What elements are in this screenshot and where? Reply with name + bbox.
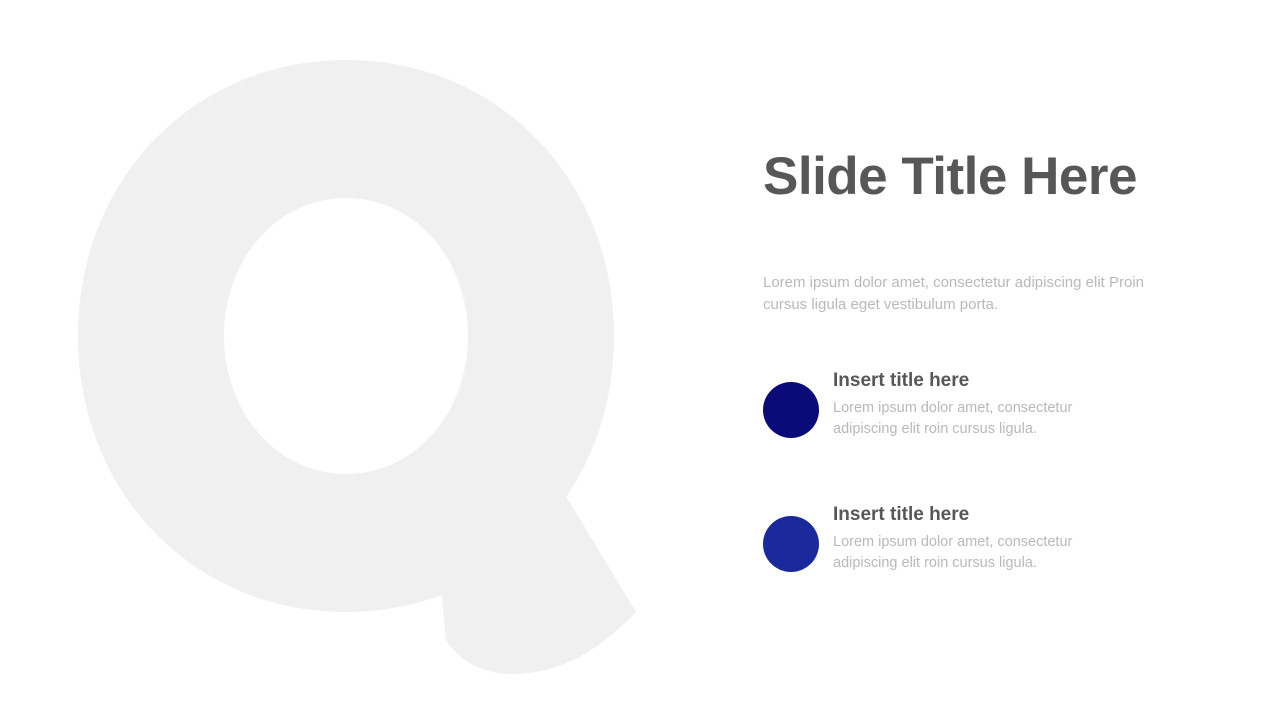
list-item-body: Insert title here Lorem ipsum dolor amet… (833, 502, 1123, 574)
list-item[interactable]: Insert title here Lorem ipsum dolor amet… (763, 368, 1223, 458)
bullet-circle-icon (763, 516, 819, 572)
content-column: Slide Title Here Lorem ipsum dolor amet,… (763, 0, 1223, 720)
list-item[interactable]: Insert title here Lorem ipsum dolor amet… (763, 502, 1223, 592)
slide-canvas: Slide Title Here Lorem ipsum dolor amet,… (0, 0, 1280, 720)
list-item-text: Lorem ipsum dolor amet, consectetur adip… (833, 398, 1123, 440)
page-title: Slide Title Here (763, 146, 1137, 208)
list-item-body: Insert title here Lorem ipsum dolor amet… (833, 368, 1123, 440)
letter-q-glyph (78, 60, 636, 674)
bullet-circle-icon (763, 382, 819, 438)
list-item-text: Lorem ipsum dolor amet, consectetur adip… (833, 532, 1123, 574)
letter-q-watermark (60, 40, 660, 680)
slide-subtitle: Lorem ipsum dolor amet, consectetur adip… (763, 272, 1181, 316)
list-item-title: Insert title here (833, 502, 1123, 528)
list-item-title: Insert title here (833, 368, 1123, 394)
